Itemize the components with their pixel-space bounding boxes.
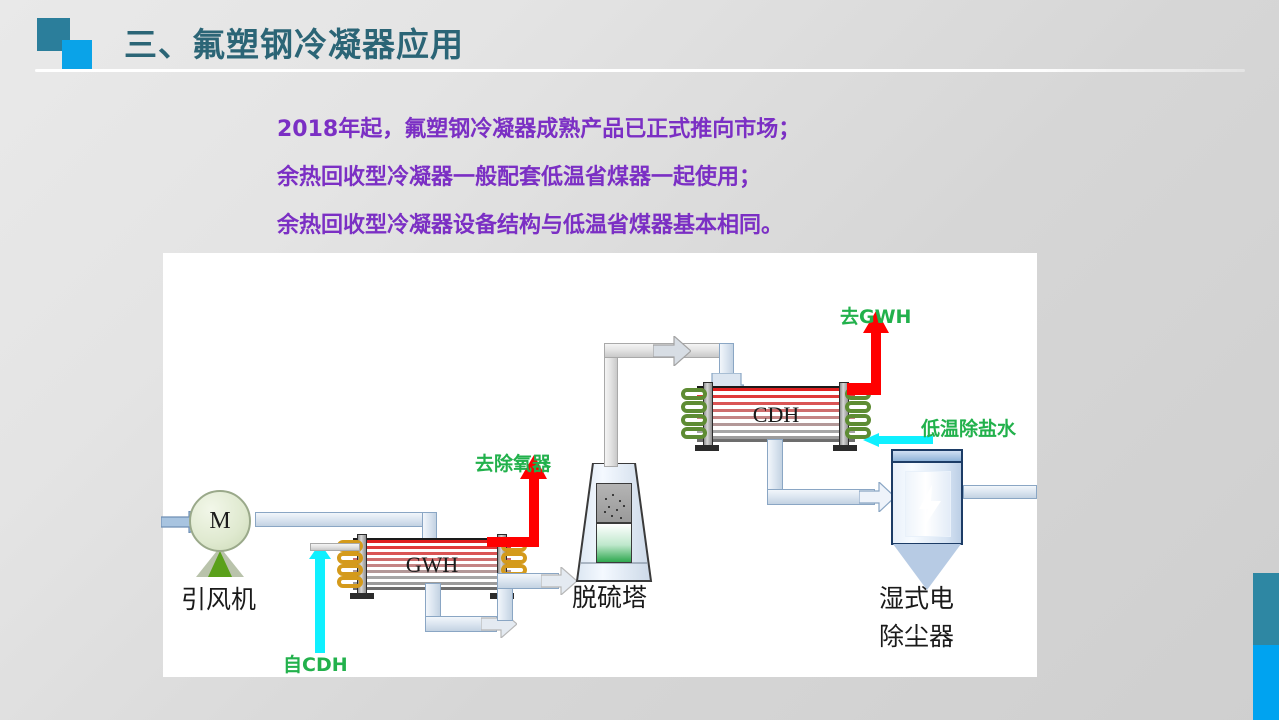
- esp-chamber: [891, 461, 963, 545]
- page-title: 三、氟塑钢冷凝器应用: [124, 18, 464, 66]
- desulfurization-tower: [575, 463, 653, 593]
- esp-label-line1: 湿式电: [879, 579, 954, 615]
- tower-label: 脱硫塔: [572, 578, 647, 614]
- cdh-coil-left: [681, 427, 707, 439]
- tower-lower-chamber: [596, 523, 632, 563]
- duct-arrow-right-esp-icon: [859, 482, 895, 512]
- corner-accent-blue: [1253, 645, 1279, 720]
- cdh-left-foot: [695, 445, 719, 451]
- duct-fan-to-gwh-horizontal: [255, 512, 437, 527]
- cdh-label: CDH: [697, 402, 855, 428]
- cdh-right-foot: [833, 445, 857, 451]
- low-temp-demin-water-label: 低温除盐水: [921, 414, 1016, 441]
- title-divider: [35, 69, 1245, 72]
- duct-cdh-inlet-stub: [310, 543, 360, 551]
- duct-esp-outlet: [963, 485, 1037, 499]
- to-gwh-label: 去GWH: [840, 302, 911, 329]
- tower-upper-chamber: [596, 483, 632, 523]
- wet-esp: [891, 449, 963, 591]
- body-line-3: 余热回收型冷凝器设备结构与低温省煤器基本相同。: [277, 202, 977, 250]
- from-cdh-cyan-arrow-icon: [309, 543, 331, 653]
- slide: 三、氟塑钢冷凝器应用 2018年起，氟塑钢冷凝器成熟产品已正式推向市场； 余热回…: [0, 0, 1279, 720]
- process-flow-diagram: GWH: [163, 253, 1037, 677]
- gwh-left-foot: [350, 593, 374, 599]
- lightning-bolt-icon: [917, 485, 943, 527]
- body-line-1: 2018年起，氟塑钢冷凝器成熟产品已正式推向市场；: [277, 106, 977, 154]
- gwh-label: GWH: [353, 552, 511, 578]
- body-line-2: 余热回收型冷凝器一般配套低温省煤器一起使用；: [277, 154, 977, 202]
- cdh-coil-left: [681, 388, 707, 400]
- duct-arrow-right-cdh-icon: [653, 336, 691, 366]
- decor-square-bright-icon: [62, 40, 92, 70]
- fan-motor-symbol: M: [189, 490, 251, 552]
- to-deaerator-label: 去除氧器: [475, 449, 551, 476]
- cdh-heat-exchanger: CDH: [697, 386, 855, 442]
- esp-label-line2: 除尘器: [879, 617, 954, 653]
- fan-pedestal: [208, 551, 232, 577]
- duct-tower-riser: [604, 343, 618, 467]
- from-cdh-label: 自CDH: [283, 650, 348, 677]
- fan-label: 引风机: [181, 580, 256, 616]
- body-text-block: 2018年起，氟塑钢冷凝器成熟产品已正式推向市场； 余热回收型冷凝器一般配套低温…: [277, 106, 977, 250]
- corner-accent-teal: [1253, 573, 1279, 645]
